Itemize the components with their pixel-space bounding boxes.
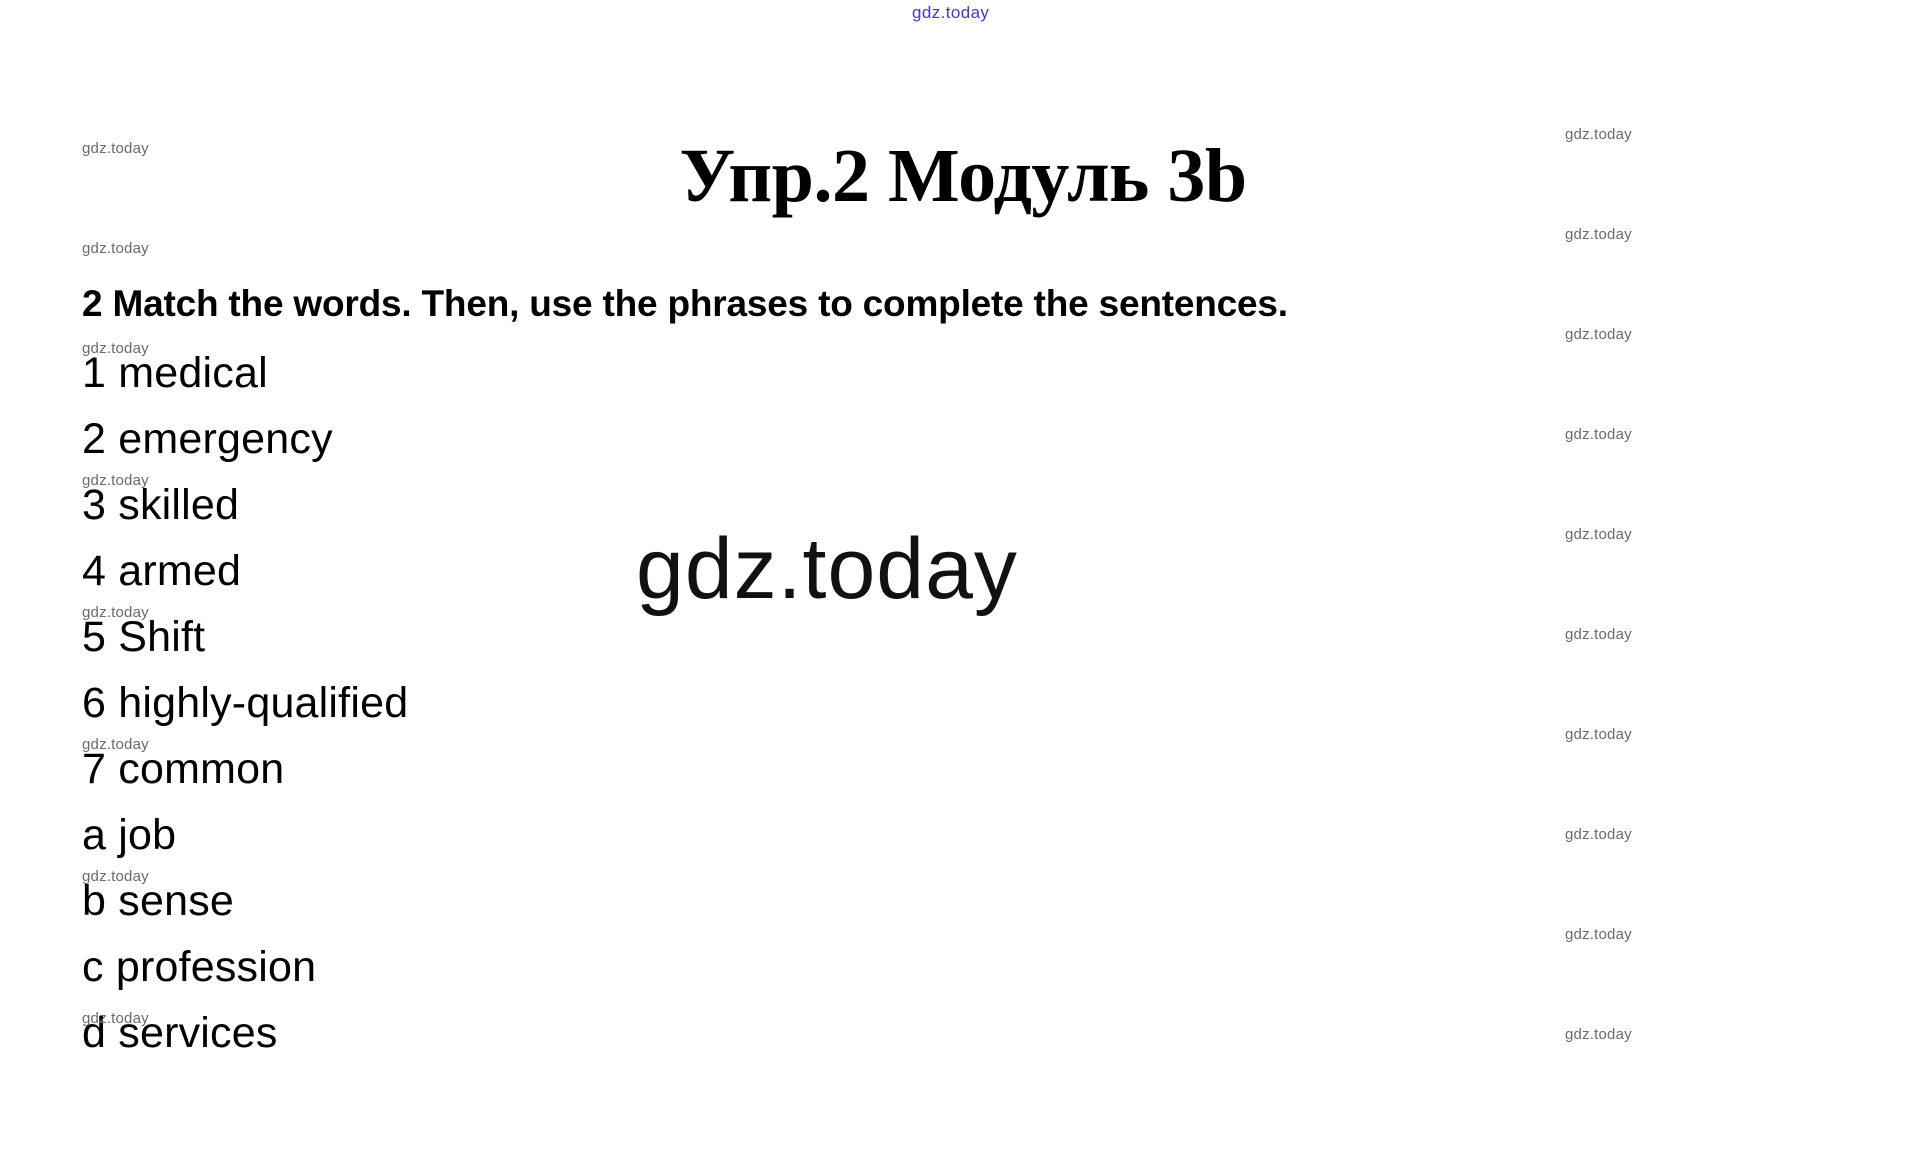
list-item-b: b sense xyxy=(82,880,234,923)
watermark-left-2: gdz.today xyxy=(82,240,149,257)
watermark-center: gdz.today xyxy=(636,520,1018,619)
watermark-right-2: gdz.today xyxy=(1565,226,1632,243)
watermark-right-10: gdz.today xyxy=(1565,1026,1632,1043)
watermark-right-5: gdz.today xyxy=(1565,526,1632,543)
list-item-1: 1 medical xyxy=(82,352,268,395)
list-item-3: 3 skilled xyxy=(82,484,239,527)
watermark-right-9: gdz.today xyxy=(1565,926,1632,943)
watermark-top: gdz.today xyxy=(912,3,989,23)
watermark-left-1: gdz.today xyxy=(82,140,149,157)
watermark-left-6: gdz.today xyxy=(82,736,149,753)
list-item-a: a job xyxy=(82,814,176,857)
list-item-7: 7 common xyxy=(82,748,284,791)
watermark-right-4: gdz.today xyxy=(1565,426,1632,443)
watermark-right-3: gdz.today xyxy=(1565,326,1632,343)
exercise-instruction: 2 Match the words. Then, use the phrases… xyxy=(82,283,1288,325)
watermark-left-8: gdz.today xyxy=(82,1010,149,1027)
list-item-5: 5 Shift xyxy=(82,616,205,659)
watermark-left-3: gdz.today xyxy=(82,340,149,357)
watermark-right-6: gdz.today xyxy=(1565,626,1632,643)
watermark-left-4: gdz.today xyxy=(82,472,149,489)
watermark-left-5: gdz.today xyxy=(82,604,149,621)
page-title: Упр.2 Модуль 3b xyxy=(0,137,1926,217)
watermark-left-7: gdz.today xyxy=(82,868,149,885)
list-item-c: c profession xyxy=(82,946,316,989)
list-item-6: 6 highly-qualified xyxy=(82,682,408,725)
list-item-4: 4 armed xyxy=(82,550,241,593)
watermark-right-8: gdz.today xyxy=(1565,826,1632,843)
watermark-right-1: gdz.today xyxy=(1565,126,1632,143)
list-item-2: 2 emergency xyxy=(82,418,333,461)
watermark-right-7: gdz.today xyxy=(1565,726,1632,743)
